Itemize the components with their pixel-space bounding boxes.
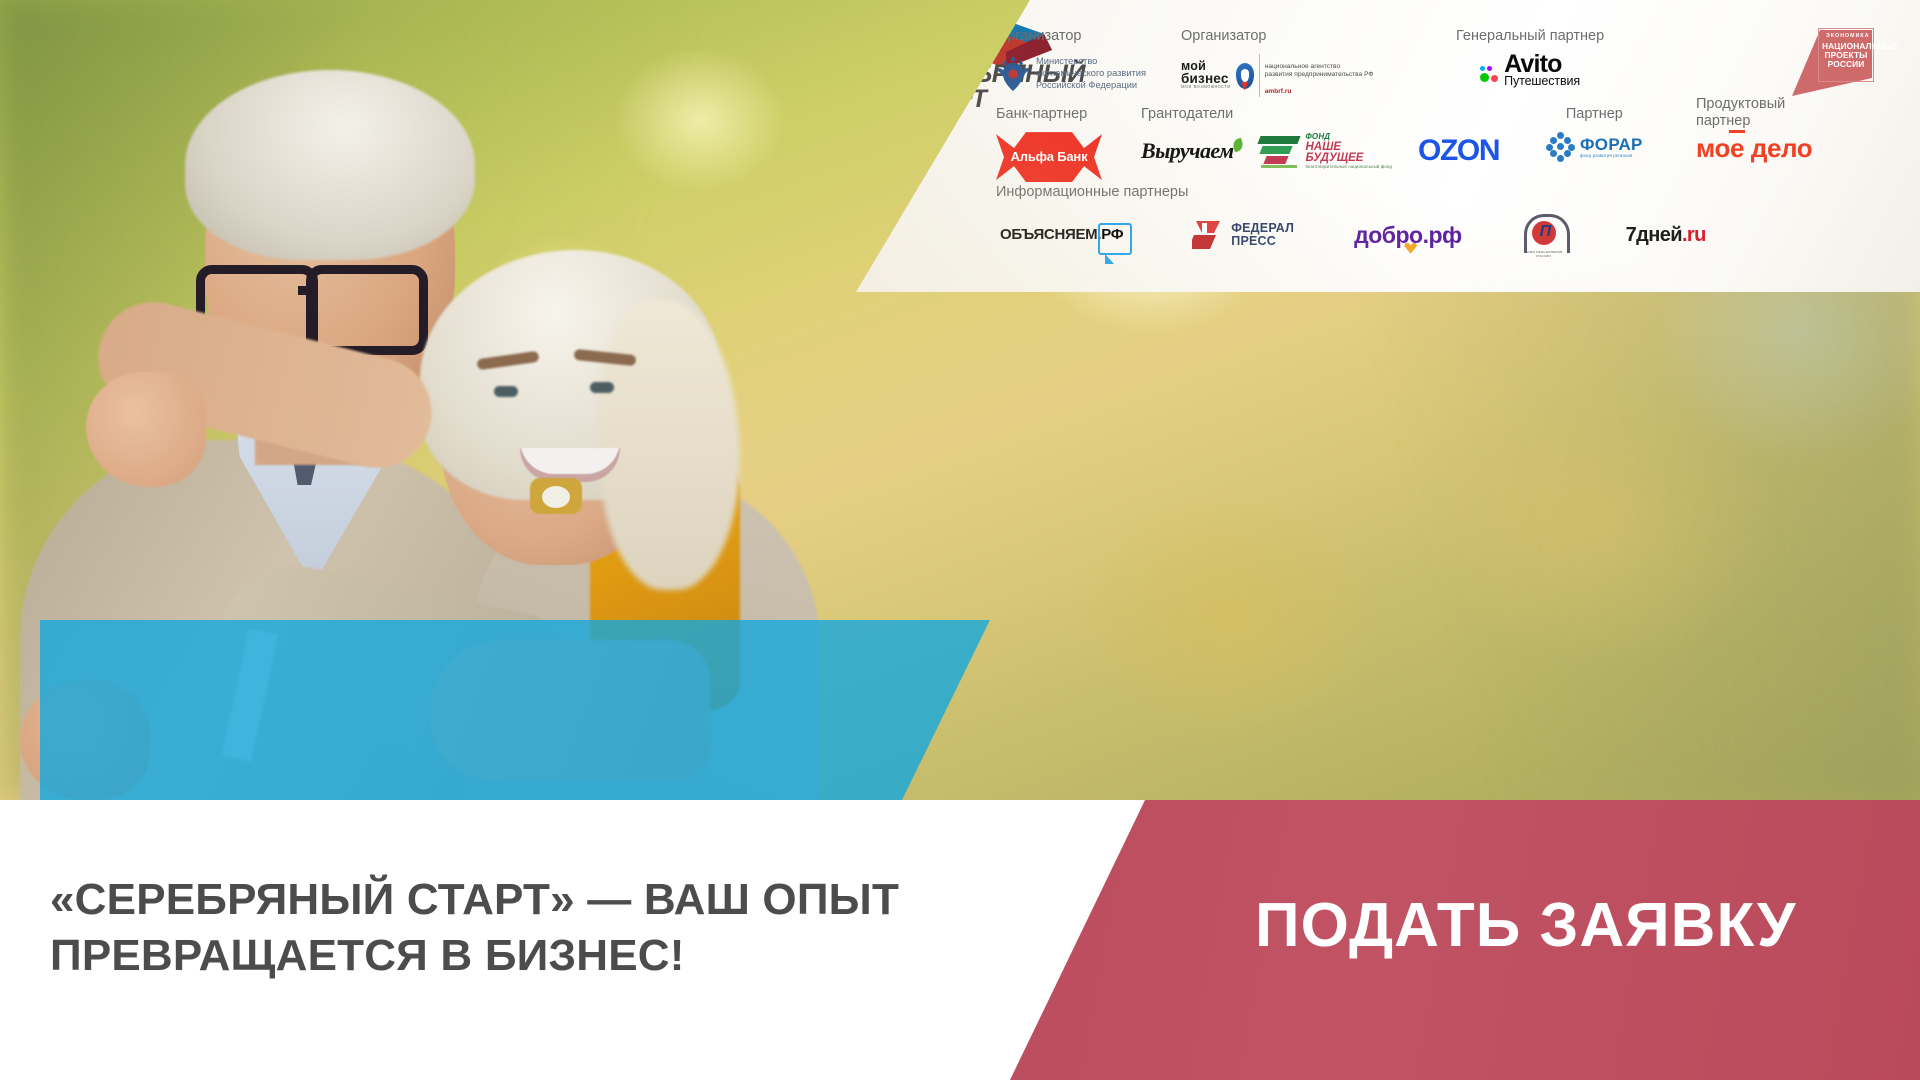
avito-dots-icon: [1480, 66, 1500, 88]
union-of-pensioners-logo[interactable]: П СОЮЗ ПЕНСИОНЕРОВ РОССИИ: [1522, 212, 1566, 258]
fond-line-2: НАШЕ БУДУЩЕЕ: [1305, 142, 1392, 165]
obyasnyaem-rf-logo[interactable]: ОБЪЯСНЯЕМ.РФ: [996, 222, 1132, 249]
partner-caption-product: Продуктовый партнер: [1696, 96, 1812, 130]
forar-sub-wordmark: фонд развития регионов: [1580, 153, 1643, 158]
dobro-wordmark: добро.рф: [1354, 222, 1462, 248]
partner-block-grantors: Грантодатели Выручаем ФОНД НАШЕ БУДУЩЕЕ …: [1141, 106, 1561, 170]
rocket-pin-icon: [1236, 63, 1254, 89]
partner-block-general-partner: Генеральный партнер Avito Путешествия: [1456, 28, 1604, 88]
avito-wordmark: Avito: [1504, 54, 1580, 74]
partner-caption-organizer-1: Организатор: [996, 28, 1146, 45]
avito-sub-wordmark: Путешествия: [1504, 74, 1580, 88]
minekonomrazvitiya-label: Министерство экономического развития Рос…: [1036, 56, 1146, 92]
avito-logo[interactable]: Avito Путешествия: [1456, 54, 1604, 88]
moe-delo-part-a: мо: [1696, 133, 1730, 163]
vyruchaem-logo[interactable]: Выручаем: [1141, 138, 1233, 164]
moe-delo-part-b: е: [1730, 133, 1744, 163]
national-projects-icon: [1786, 22, 1872, 100]
national-projects-badge[interactable]: ЭКОНОМИКА НАЦИОНАЛЬНЫЕ ПРОЕКТЫ РОССИИ: [1786, 22, 1872, 100]
national-projects-top-text: ЭКОНОМИКА: [1826, 33, 1870, 39]
partner-caption-organizer-2: Организатор: [1181, 28, 1373, 45]
heart-icon: [1404, 243, 1417, 254]
agency-url[interactable]: ambrf.ru: [1265, 88, 1292, 95]
moy-biznes-logo[interactable]: мой бизнес мои возможности национальное …: [1181, 54, 1373, 97]
agency-name: национальное агентство развития предприн…: [1265, 63, 1374, 79]
partner-caption-grantors: Грантодатели: [1141, 106, 1561, 123]
promo-banner: СЕРЕБРЯНЫЙ СТАРТ Организатор: [0, 0, 1920, 1080]
national-projects-body-text: НАЦИОНАЛЬНЫЕ ПРОЕКТЫ РОССИИ: [1822, 42, 1870, 69]
union-of-pensioners-label: СОЮЗ ПЕНСИОНЕРОВ РОССИИ: [1522, 250, 1566, 258]
moy-biznes-line-2: бизнес: [1181, 73, 1231, 85]
7dney-ru-suffix: .ru: [1682, 224, 1706, 246]
forar-logo[interactable]: ФОРАР фонд развития регионов: [1546, 132, 1643, 162]
moe-delo-part-c: дело: [1744, 133, 1812, 163]
alfa-bank-wordmark: Альфа Банк: [996, 149, 1102, 164]
dobro-rf-logo[interactable]: добро.рф: [1354, 222, 1462, 249]
moy-biznes-wordmark: мой бизнес мои возможности: [1181, 61, 1231, 90]
federalpress-mark-icon: [1192, 217, 1226, 253]
federalpress-line-1: ФЕДЕРАЛ: [1231, 222, 1294, 235]
forar-wordmark: ФОРАР: [1580, 136, 1643, 153]
partner-caption-bank: Банк-партнер: [996, 106, 1102, 123]
federalpress-logo[interactable]: ФЕДЕРАЛ ПРЕСС: [1192, 217, 1294, 253]
obyasnyaem-rf-suffix: РФ: [1101, 226, 1123, 243]
partner-block-bank: Банк-партнер Альфа Банк: [996, 106, 1102, 182]
fond-mark-icon: [1259, 132, 1301, 170]
7dney-ru-logo[interactable]: 7дней.ru: [1626, 224, 1706, 247]
partner-block-organizer-2: Организатор мой бизнес мои возможности н…: [1181, 28, 1373, 97]
alfa-bank-logo[interactable]: Альфа Банк: [996, 132, 1102, 182]
7dney-wordmark: 7дней: [1626, 224, 1682, 246]
moe-delo-logo[interactable]: мое дело: [1696, 133, 1812, 164]
russian-coat-of-arms-icon: [996, 54, 1030, 94]
partner-caption-partner: Партнер: [1546, 106, 1643, 123]
fond-nashe-budushchee-logo[interactable]: ФОНД НАШЕ БУДУЩЕЕ благотворительный наци…: [1259, 132, 1392, 170]
partner-block-info: Информационные партнеры ОБЪЯСНЯЕМ.РФ: [996, 184, 1896, 258]
partners-panel: СЕРЕБРЯНЫЙ СТАРТ Организатор: [856, 0, 1920, 292]
alfa-bank-icon: [996, 132, 1102, 182]
moy-biznes-tagline: мои возможности: [1181, 85, 1231, 90]
partner-block-partner: Партнер ФОРАР фонд развития регионов: [1546, 106, 1643, 162]
fond-line-1: ФОНД: [1305, 133, 1392, 141]
pensioners-ring-icon: [1524, 214, 1570, 253]
partner-block-product: Продуктовый партнер мое дело: [1696, 96, 1812, 164]
apply-button[interactable]: Подать заявку: [1255, 890, 1796, 961]
page-title: «Серебряный старт» — ваш опыт превращает…: [50, 872, 1010, 985]
federalpress-line-2: ПРЕСС: [1231, 235, 1294, 248]
ozon-logo[interactable]: OZON: [1418, 136, 1499, 166]
partner-block-organizer-1: Организатор Мини: [996, 28, 1146, 94]
obyasnyaem-wordmark: ОБЪЯСНЯЕМ.: [1000, 226, 1101, 243]
moy-biznes-line-1: мой: [1181, 61, 1231, 73]
fond-line-3: благотворительный национальный фонд: [1305, 165, 1392, 169]
agency-label: национальное агентство развития предприн…: [1259, 54, 1374, 97]
cyan-accent-wedge: [40, 620, 990, 800]
forar-mark-icon: [1546, 132, 1576, 162]
minekonomrazvitiya-logo[interactable]: Министерство экономического развития Рос…: [996, 54, 1146, 94]
partner-caption-info: Информационные партнеры: [996, 184, 1896, 201]
partner-caption-general: Генеральный партнер: [1456, 28, 1604, 45]
